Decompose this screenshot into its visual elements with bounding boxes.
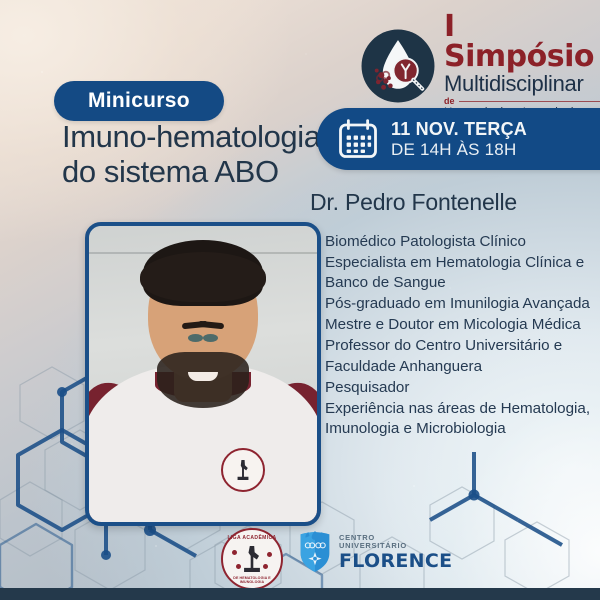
blood-cell-icon	[267, 552, 272, 557]
symposium-connector: de	[444, 97, 455, 106]
list-item: Biomédico Patologista Clínico	[310, 232, 598, 252]
list-item: Especialista em Hematologia Clínica e Ba…	[310, 253, 598, 294]
liga-academica-seal: LIGA ACADÊMICA DE HEMATOLOGIA E IMUNOLOG…	[221, 528, 283, 590]
microscope-icon	[241, 546, 263, 572]
blood-cell-icon	[232, 550, 237, 555]
list-item: Professor do Centro Universitário e Facu…	[310, 336, 598, 377]
list-item: Experiência nas áreas de Hematologia, Im…	[310, 399, 598, 440]
photo-eyebrow-right	[198, 321, 224, 330]
florence-shield-icon	[298, 531, 332, 573]
photo-hair-front	[140, 252, 266, 302]
florence-university-logo: CENTRO UNIVERSITÁRIO FLORENCE	[298, 531, 452, 573]
photo-eye-right	[203, 334, 218, 342]
event-poster: I Simpósio Multidisciplinar de Hematolog…	[0, 0, 600, 600]
date-banner: 11 NOV. TERÇA DE 14H ÀS 18H	[317, 108, 600, 170]
list-item: Pós-graduado em Imunilogia Avançada	[310, 294, 598, 314]
florence-line3: FLORENCE	[339, 552, 452, 571]
speaker-name: Dr. Pedro Fontenelle	[310, 190, 590, 215]
liga-seal-bottom-text: DE HEMATOLOGIA E IMUNOLOGIA	[223, 576, 281, 584]
page-title: Imuno-hematologia do sistema ABO	[62, 120, 352, 189]
blood-cell-icon	[236, 564, 241, 569]
florence-text-group: CENTRO UNIVERSITÁRIO FLORENCE	[339, 534, 452, 571]
bottom-bar	[0, 588, 600, 600]
photo-eye-left	[188, 334, 203, 342]
blood-drop-magnifier-icon	[360, 28, 436, 104]
calendar-icon	[337, 118, 379, 160]
symposium-title-line1: I Simpósio	[444, 12, 600, 72]
speaker-photo	[85, 222, 321, 526]
speaker-credentials-list: Biomédico Patologista Clínico Especialis…	[310, 232, 598, 440]
photo-mouth	[188, 372, 218, 381]
date-text-group: 11 NOV. TERÇA DE 14H ÀS 18H	[391, 119, 527, 158]
blood-cell-icon	[263, 564, 268, 569]
florence-line1: CENTRO	[339, 534, 452, 542]
list-item: Mestre e Doutor em Micologia Médica	[310, 315, 598, 335]
symposium-logo: I Simpósio Multidisciplinar de Hematolog…	[360, 12, 600, 120]
florence-line2: UNIVERSITÁRIO	[339, 542, 452, 550]
date-secondary: DE 14H ÀS 18H	[391, 140, 527, 159]
symposium-connector-row: de	[444, 97, 600, 106]
minicurso-badge: Minicurso	[54, 81, 224, 121]
symposium-title-line2: Multidisciplinar	[444, 73, 600, 95]
photo-inner	[89, 226, 317, 522]
divider-rule	[459, 101, 600, 102]
list-item: Pesquisador	[310, 378, 598, 398]
shirt-logo-seal-icon	[221, 448, 265, 492]
liga-seal-top-text: LIGA ACADÊMICA	[223, 535, 281, 541]
date-primary: 11 NOV. TERÇA	[391, 119, 527, 139]
